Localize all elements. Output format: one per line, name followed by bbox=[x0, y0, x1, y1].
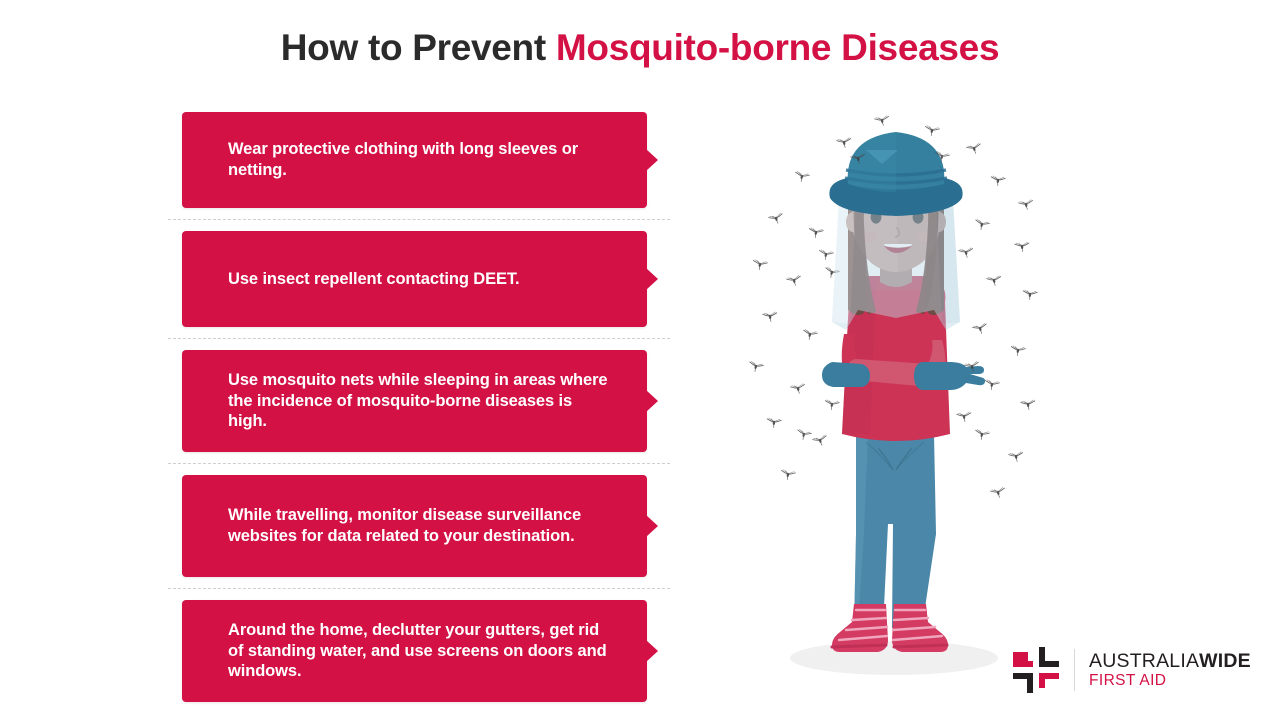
illustration-svg bbox=[736, 104, 1056, 684]
spacer bbox=[168, 327, 670, 338]
illustration-woman-with-mosquito-net bbox=[736, 104, 1056, 684]
spacer bbox=[168, 464, 670, 475]
mosquito-net-veil bbox=[832, 200, 960, 330]
tip-card-repellent[interactable]: Use insect repellent contacting DEET. bbox=[182, 231, 647, 327]
glove-left bbox=[822, 362, 870, 387]
tip-card-text: Use insect repellent contacting DEET. bbox=[228, 269, 520, 290]
australia-wide-cross-icon bbox=[1012, 646, 1060, 694]
list-item: Around the home, declutter your gutters,… bbox=[168, 600, 670, 702]
tip-card-travel[interactable]: While travelling, monitor disease survei… bbox=[182, 475, 647, 577]
list-item: Use mosquito nets while sleeping in area… bbox=[168, 350, 670, 452]
page-title: How to Prevent Mosquito-borne Diseases bbox=[0, 27, 1280, 69]
brand-logo: AUSTRALIAWIDE FIRST AID bbox=[1012, 646, 1251, 694]
spacer bbox=[168, 220, 670, 231]
logo-name-part1: AUSTRALIA bbox=[1089, 650, 1199, 672]
tip-card-text: While travelling, monitor disease survei… bbox=[228, 505, 611, 547]
glove-right bbox=[914, 362, 985, 390]
list-item: Wear protective clothing with long sleev… bbox=[168, 112, 670, 208]
spacer bbox=[168, 452, 670, 463]
list-item: While travelling, monitor disease survei… bbox=[168, 475, 670, 577]
logo-divider bbox=[1074, 649, 1075, 691]
legs-jeans bbox=[854, 434, 936, 628]
tip-card-clothing[interactable]: Wear protective clothing with long sleev… bbox=[182, 112, 647, 208]
tip-card-home[interactable]: Around the home, declutter your gutters,… bbox=[182, 600, 647, 702]
logo-tagline: FIRST AID bbox=[1089, 673, 1251, 690]
spacer bbox=[168, 589, 670, 600]
tips-list: Wear protective clothing with long sleev… bbox=[168, 112, 670, 702]
logo-wordmark: AUSTRALIAWIDE FIRST AID bbox=[1089, 651, 1251, 690]
spacer bbox=[168, 208, 670, 219]
logo-company-name: AUSTRALIAWIDE bbox=[1089, 651, 1251, 672]
tip-card-text: Around the home, declutter your gutters,… bbox=[228, 620, 611, 682]
list-item: Use insect repellent contacting DEET. bbox=[168, 231, 670, 327]
tip-card-text: Wear protective clothing with long sleev… bbox=[228, 139, 611, 181]
tip-card-nets[interactable]: Use mosquito nets while sleeping in area… bbox=[182, 350, 647, 452]
tip-card-text: Use mosquito nets while sleeping in area… bbox=[228, 370, 611, 432]
logo-name-part2: WIDE bbox=[1199, 650, 1251, 672]
spacer bbox=[168, 339, 670, 350]
spacer bbox=[168, 577, 670, 588]
page-title-lead: How to Prevent bbox=[281, 27, 556, 68]
bucket-hat bbox=[829, 132, 962, 216]
page-title-accent: Mosquito-borne Diseases bbox=[556, 27, 999, 68]
infographic-page: How to Prevent Mosquito-borne Diseases W… bbox=[0, 0, 1280, 720]
